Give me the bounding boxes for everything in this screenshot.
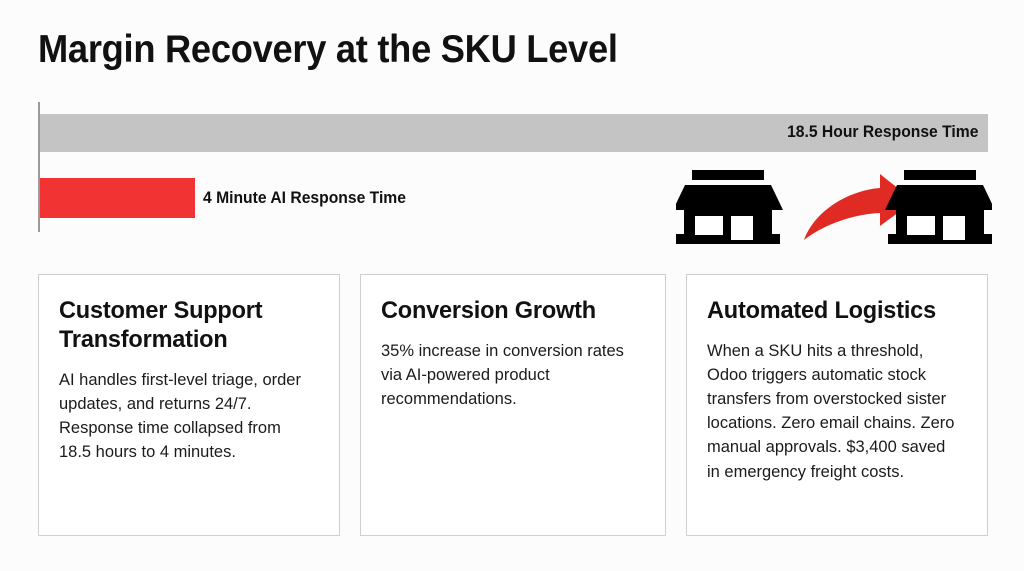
store-transfer-graphic: [676, 170, 992, 248]
highlight-cards: Customer Support Transformation AI handl…: [38, 274, 988, 536]
store-icon: [676, 170, 783, 244]
card-customer-support-transformation: Customer Support Transformation AI handl…: [38, 274, 340, 536]
card-automated-logistics: Automated Logistics When a SKU hits a th…: [686, 274, 988, 536]
bar-label-after-ai: 4 Minute AI Response Time: [203, 189, 406, 208]
card-body: 35% increase in conversion rates via AI-…: [381, 339, 637, 411]
card-body: When a SKU hits a threshold, Odoo trigge…: [707, 339, 959, 484]
card-title: Conversion Growth: [381, 297, 634, 326]
card-title: Customer Support Transformation: [59, 297, 309, 355]
card-body: AI handles first-level triage, order upd…: [59, 368, 311, 465]
bar-after-ai: [40, 178, 195, 218]
page-title: Margin Recovery at the SKU Level: [38, 30, 618, 71]
slide-canvas: Margin Recovery at the SKU Level 18.5 Ho…: [0, 0, 1024, 571]
card-conversion-growth: Conversion Growth 35% increase in conver…: [360, 274, 666, 536]
bar-label-before-manual: 18.5 Hour Response Time: [787, 123, 978, 142]
store-icon: [885, 170, 992, 244]
card-title: Automated Logistics: [707, 297, 957, 326]
